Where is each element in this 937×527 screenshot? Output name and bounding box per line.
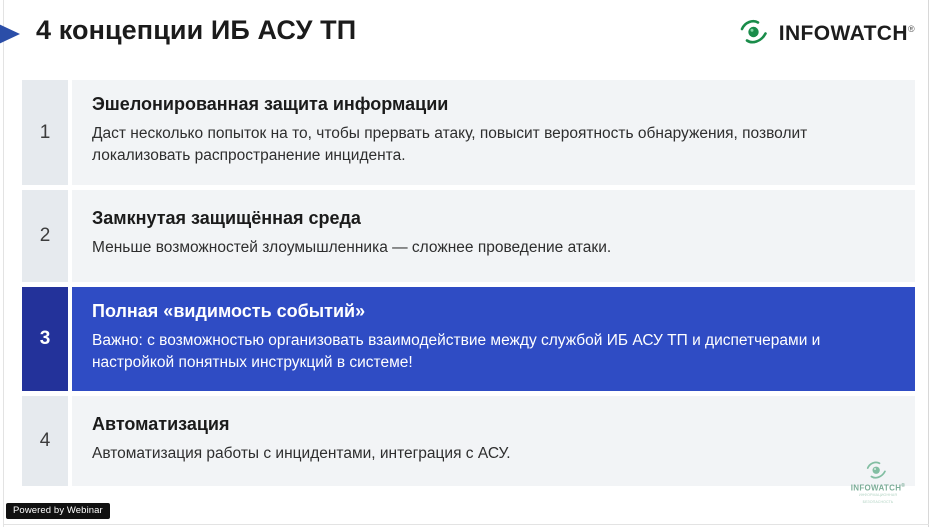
concept-description-1: Даст несколько попыток на то, чтобы прер… [92,123,897,167]
concept-body-3: Полная «видимость событий» Важно: с возм… [72,287,915,391]
concept-title-3: Полная «видимость событий» [92,301,897,323]
infowatch-wordmark-text: INFOWATCH [779,22,908,45]
concept-title-2: Замкнутая защищённая среда [92,208,897,230]
infowatch-logo: INFOWATCH® [739,16,915,50]
infowatch-wordmark: INFOWATCH® [779,23,915,44]
slide-header: 4 концепции ИБ АСУ ТП INFOWATCH® [0,0,937,74]
registered-mark-icon: ® [908,24,915,34]
powered-by-badge: Powered by Webinar [6,503,110,520]
concept-description-4: Автоматизация работы с инцидентами, инте… [92,443,897,465]
concept-body-4: Автоматизация Автоматизация работы с инц… [72,396,915,486]
concept-number-3: 3 [22,287,68,391]
triangle-marker-icon [0,20,20,48]
slide-canvas: 4 концепции ИБ АСУ ТП INFOWATCH® 1 Эшело… [0,0,937,527]
concept-description-3: Важно: с возможностью организовать взаим… [92,330,897,374]
concept-title-1: Эшелонированная защита информации [92,94,897,116]
watermark-tagline-line2: БЕЗОПАСНОСТЬ [841,500,915,505]
frame-divider-right [928,0,929,527]
concept-row-4[interactable]: 4 Автоматизация Автоматизация работы с и… [22,396,915,486]
concept-number-4: 4 [22,396,68,486]
concept-title-4: Автоматизация [92,414,897,436]
concept-row-2[interactable]: 2 Замкнутая защищённая среда Меньше возм… [22,190,915,282]
concept-body-1: Эшелонированная защита информации Даст н… [72,80,915,185]
concepts-list: 1 Эшелонированная защита информации Даст… [22,80,915,491]
page-title: 4 концепции ИБ АСУ ТП [36,15,356,46]
concept-body-2: Замкнутая защищённая среда Меньше возмож… [72,190,915,282]
watermark-tagline-line1: ИНФОРМАЦИОННАЯ [841,493,915,498]
concept-number-2: 2 [22,190,68,282]
concept-description-2: Меньше возможностей злоумышленника — сло… [92,237,897,259]
concept-number-1: 1 [22,80,68,185]
infowatch-eye-icon [739,18,773,48]
frame-divider-left [3,0,4,527]
concept-row-1[interactable]: 1 Эшелонированная защита информации Даст… [22,80,915,185]
concept-row-3[interactable]: 3 Полная «видимость событий» Важно: с во… [22,287,915,391]
frame-divider-bottom [4,524,929,525]
